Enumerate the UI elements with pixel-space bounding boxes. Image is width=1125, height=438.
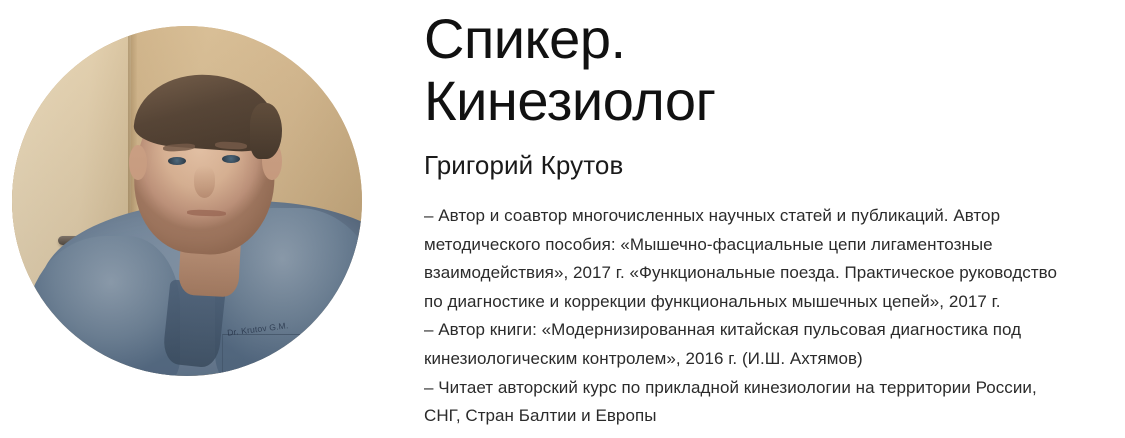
bio-line: кинезиологическим контролем», 2016 г. (И… — [424, 345, 1084, 374]
speaker-content: Спикер. Кинезиолог Григорий Крутов – Авт… — [424, 0, 1084, 431]
bio-line: – Автор и соавтор многочисленных научных… — [424, 202, 1084, 231]
bio-line: взаимодействия», 2017 г. «Функциональные… — [424, 259, 1084, 288]
speaker-avatar: Dr. Krutov G.M. — [12, 26, 362, 376]
scrub-pocket — [222, 334, 313, 376]
speaker-name: Григорий Крутов — [424, 148, 1084, 182]
speaker-card: Dr. Krutov G.M. Спикер. Кинезиолог Григо… — [0, 0, 1125, 438]
portrait-photo: Dr. Krutov G.M. — [12, 26, 362, 376]
bio-line: по диагностике и коррекции функциональны… — [424, 288, 1084, 317]
hair-side — [250, 103, 282, 159]
bio-line: – Автор книги: «Модернизированная китайс… — [424, 316, 1084, 345]
page-title: Спикер. Кинезиолог — [424, 8, 1084, 132]
mouth — [187, 209, 226, 216]
bio-line: – Читает авторский курс по прикладной ки… — [424, 374, 1084, 403]
nose — [194, 166, 215, 198]
ear-left — [129, 145, 147, 180]
bio-line: методического пособия: «Мышечно-фасциаль… — [424, 231, 1084, 260]
bio-line: СНГ, Стран Балтии и Европы — [424, 402, 1084, 431]
speaker-bio: – Автор и соавтор многочисленных научных… — [424, 202, 1084, 431]
